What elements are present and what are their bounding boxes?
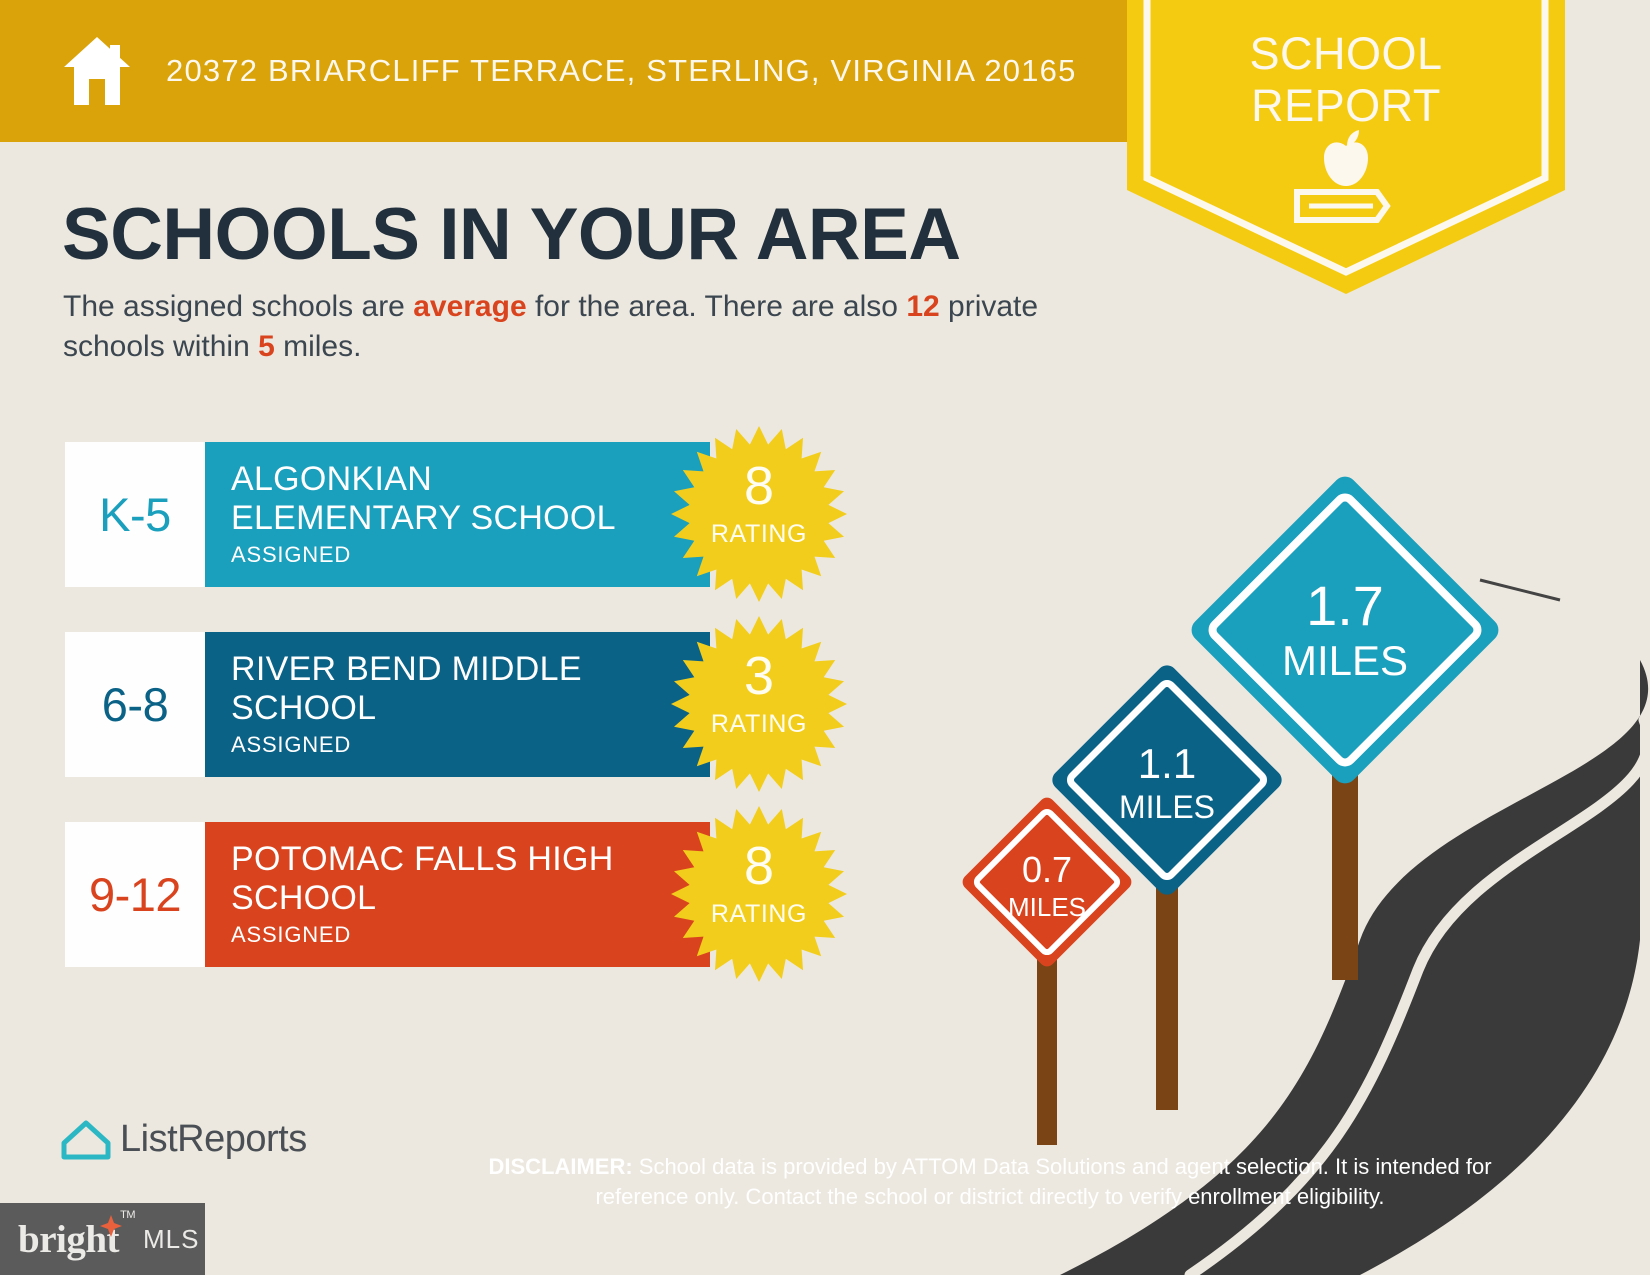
- badge-line-1: SCHOOL: [1127, 28, 1565, 80]
- grade-label: 6-8: [102, 677, 168, 732]
- subtitle-part-2: for the area. There are also: [527, 290, 907, 323]
- school-row[interactable]: K-5 ALGONKIAN ELEMENTARY SCHOOL ASSIGNED…: [65, 442, 855, 587]
- subtitle-part-4: miles.: [275, 330, 362, 363]
- rating-starburst: 3 RATING: [669, 614, 849, 794]
- school-bar: ALGONKIAN ELEMENTARY SCHOOL ASSIGNED: [205, 442, 710, 587]
- subtitle-highlight-average: average: [413, 290, 526, 323]
- badge-text: SCHOOL REPORT: [1127, 28, 1565, 132]
- spark-icon: [100, 1215, 122, 1237]
- rating-starburst: 8 RATING: [669, 424, 849, 604]
- grade-box: 6-8: [65, 632, 205, 777]
- header-bar: 20372 BRIARCLIFF TERRACE, STERLING, VIRG…: [0, 0, 1131, 142]
- brightmls-logo: bright TM MLS: [0, 1203, 205, 1275]
- listreports-logo: ListReports: [60, 1118, 307, 1161]
- brightmls-wordmark: bright TM: [18, 1217, 119, 1262]
- grade-box: 9-12: [65, 822, 205, 967]
- subtitle-highlight-miles: 5: [258, 330, 275, 363]
- rating-label: RATING: [669, 520, 849, 549]
- school-status: ASSIGNED: [231, 542, 710, 568]
- school-status: ASSIGNED: [231, 922, 710, 948]
- school-row[interactable]: 9-12 POTOMAC FALLS HIGH SCHOOL ASSIGNED …: [65, 822, 855, 967]
- school-name: POTOMAC FALLS HIGH SCHOOL: [231, 840, 710, 918]
- rating-value: 8: [669, 459, 849, 513]
- grade-label: K-5: [99, 487, 171, 542]
- sign-unit: MILES: [1282, 637, 1408, 684]
- subtitle-highlight-count: 12: [906, 290, 939, 323]
- disclaimer-text: School data is provided by ATTOM Data So…: [595, 1154, 1491, 1209]
- trademark-mark: TM: [120, 1209, 135, 1221]
- house-outline-icon: [60, 1119, 112, 1161]
- listreports-label: ListReports: [120, 1118, 307, 1161]
- rating-label: RATING: [669, 900, 849, 929]
- header-address: 20372 BRIARCLIFF TERRACE, STERLING, VIRG…: [166, 53, 1077, 89]
- sign-unit: MILES: [1119, 789, 1215, 825]
- subtitle-part-1: The assigned schools are: [63, 290, 413, 323]
- disclaimer: DISCLAIMER: School data is provided by A…: [460, 1152, 1520, 1212]
- school-row[interactable]: 6-8 RIVER BEND MIDDLE SCHOOL ASSIGNED 3 …: [65, 632, 855, 777]
- school-bar: POTOMAC FALLS HIGH SCHOOL ASSIGNED: [205, 822, 710, 967]
- rating-label: RATING: [669, 710, 849, 739]
- grade-box: K-5: [65, 442, 205, 587]
- disclaimer-label: DISCLAIMER:: [488, 1154, 632, 1179]
- school-name: ALGONKIAN ELEMENTARY SCHOOL: [231, 460, 710, 538]
- page-title: SCHOOLS IN YOUR AREA: [62, 193, 961, 276]
- subtitle: The assigned schools are average for the…: [63, 287, 1108, 367]
- rating-value: 3: [669, 649, 849, 703]
- rating-starburst: 8 RATING: [669, 804, 849, 984]
- school-bar: RIVER BEND MIDDLE SCHOOL ASSIGNED: [205, 632, 710, 777]
- school-status: ASSIGNED: [231, 732, 710, 758]
- sign-unit: MILES: [1008, 892, 1086, 922]
- brightmls-mls-text: MLS: [143, 1224, 199, 1255]
- road-sign-0-7: 0.7 MILES: [959, 794, 1134, 1145]
- sign-distance: 1.1: [1138, 740, 1196, 787]
- school-name: RIVER BEND MIDDLE SCHOOL: [231, 650, 710, 728]
- rating-value: 8: [669, 839, 849, 893]
- sign-distance: 1.7: [1306, 574, 1384, 637]
- school-report-badge: SCHOOL REPORT: [1127, 0, 1565, 294]
- badge-line-2: REPORT: [1127, 80, 1565, 132]
- sign-wire: [1480, 580, 1560, 600]
- grade-label: 9-12: [89, 867, 181, 922]
- home-icon: [58, 35, 136, 107]
- sign-distance: 0.7: [1022, 849, 1072, 890]
